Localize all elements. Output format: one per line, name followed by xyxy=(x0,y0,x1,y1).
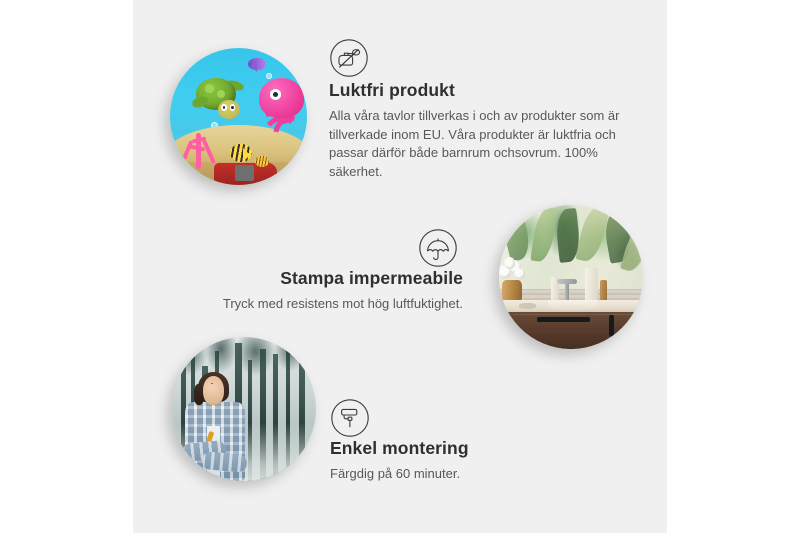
underwater-kids-illustration-photo xyxy=(170,48,307,185)
shipwreck xyxy=(214,163,277,185)
purple-fish xyxy=(248,58,266,70)
feature-title: Luktfri produkt xyxy=(329,80,629,101)
feature-title: Stampa impermeabile xyxy=(158,268,463,289)
no-fragrance-spray-icon xyxy=(329,38,369,78)
feature-body: Alla våra tavlor tillverkas i och av pro… xyxy=(329,107,629,181)
infographic-panel: Luktfri produkt Alla våra tavlor tillver… xyxy=(133,0,667,533)
striped-fish xyxy=(230,144,252,162)
feature-body: Färgdig på 60 minuter. xyxy=(330,465,630,484)
bathroom-botanical-wallpaper-photo xyxy=(499,205,643,349)
product-feature-infographic: Luktfri produkt Alla våra tavlor tillver… xyxy=(0,0,800,533)
toiletry-bottle xyxy=(585,268,598,301)
woman-figure xyxy=(181,372,262,481)
bathroom-scene xyxy=(499,205,643,349)
feature-title: Enkel montering xyxy=(330,438,630,459)
wood-vanity xyxy=(508,312,643,349)
face xyxy=(203,376,224,406)
feature-text-waterproof: Stampa impermeabile Tryck med resistens … xyxy=(158,268,463,314)
arm xyxy=(201,451,247,472)
feature-text-odourless: Luktfri produkt Alla våra tavlor tillver… xyxy=(329,80,629,181)
pink-coral xyxy=(178,127,219,168)
feature-body: Tryck med resistens mot hög luftfuktighe… xyxy=(158,295,463,314)
feature-text-easy-mounting: Enkel montering Färgdig på 60 minuter. xyxy=(330,438,630,484)
paint-roller-icon xyxy=(330,398,370,438)
woman-with-paint-roller-photo xyxy=(172,337,316,481)
forest-mural-scene xyxy=(172,337,316,481)
pink-octopus xyxy=(249,78,304,147)
sink-basin xyxy=(548,300,597,310)
underwater-scene xyxy=(170,48,307,185)
green-turtle xyxy=(192,78,247,122)
soap-dish xyxy=(519,303,536,309)
umbrella-icon xyxy=(418,228,458,268)
toiletry-bottle xyxy=(600,280,607,302)
white-flowers xyxy=(499,257,528,283)
small-fish xyxy=(255,156,269,167)
